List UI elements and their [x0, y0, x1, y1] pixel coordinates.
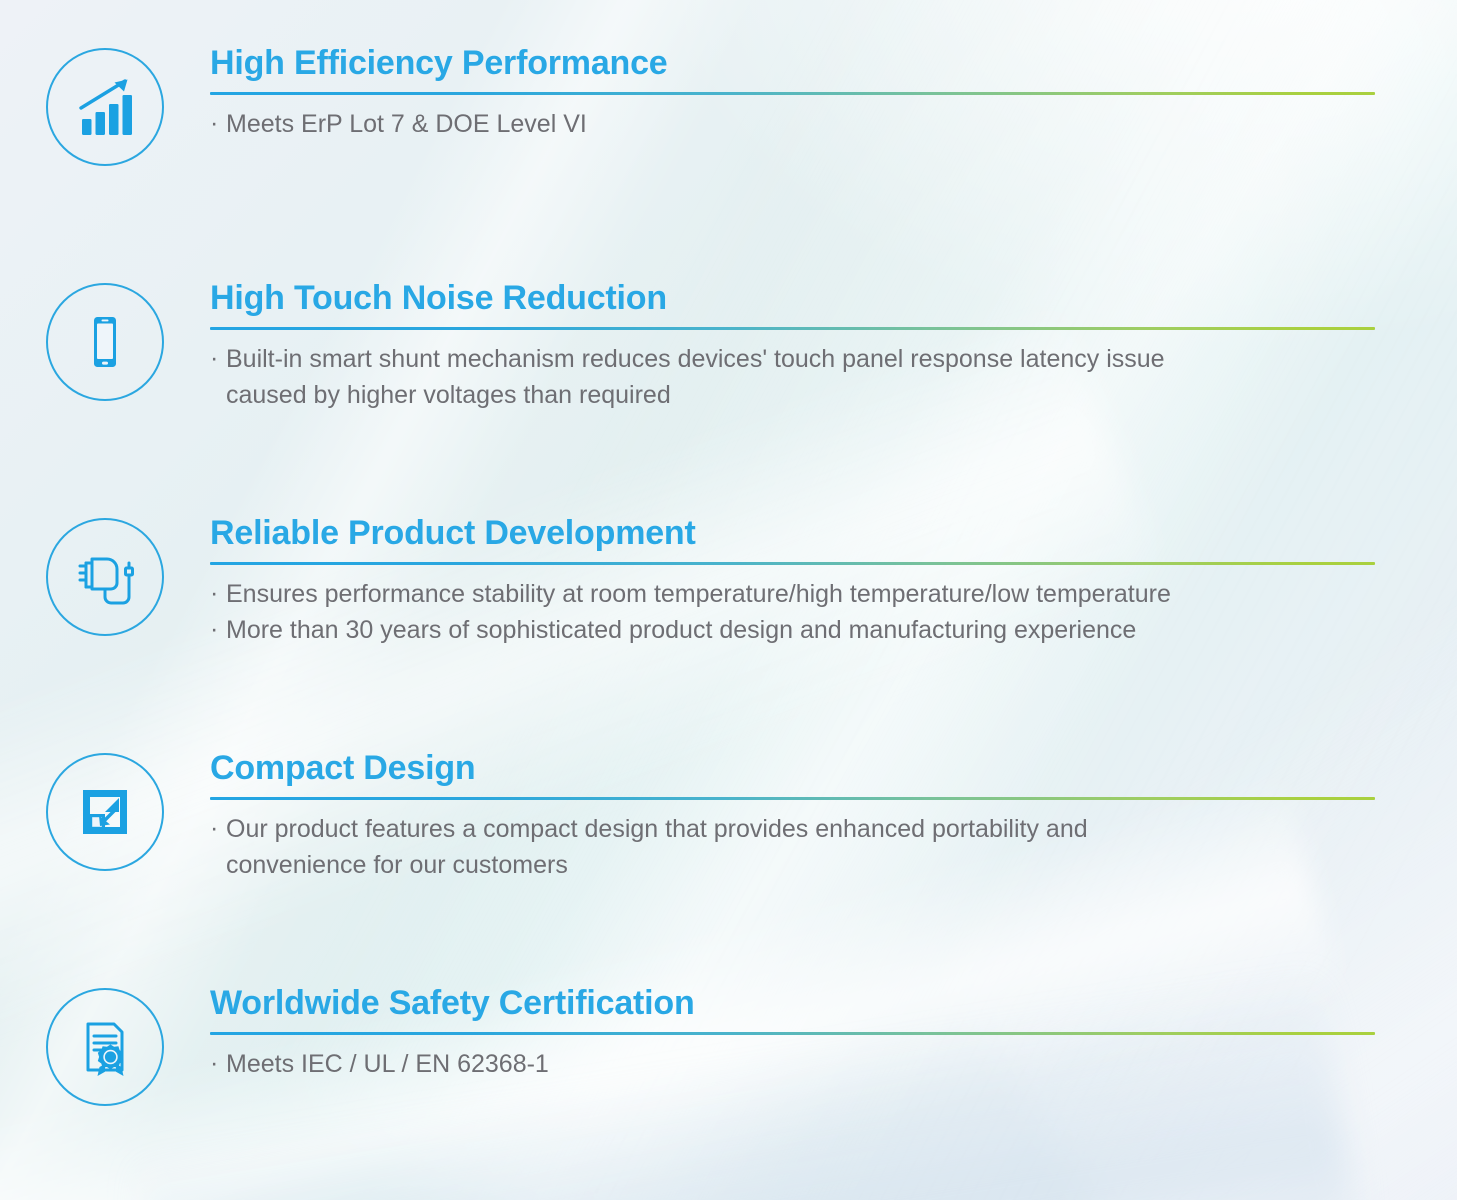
feature-text-cell: Worldwide Safety Certification Meets IEC…	[210, 984, 1457, 1083]
feature-list: High Efficiency Performance Meets ErP Lo…	[0, 0, 1457, 1200]
feature-bullet-line: Our product features a compact design th…	[226, 815, 1088, 843]
feature-text-cell: Compact Design Our product features a co…	[210, 749, 1457, 883]
feature-text-cell: Reliable Product Development Ensures per…	[210, 514, 1457, 648]
feature-text-cell: High Touch Noise Reduction Built-in smar…	[210, 279, 1457, 413]
feature-icon-cell	[0, 279, 210, 401]
feature-bullet-line: Meets ErP Lot 7 & DOE Level VI	[226, 110, 587, 138]
feature-bullet-line: Ensures performance stability at room te…	[226, 580, 1171, 608]
feature-bullet-line: More than 30 years of sophisticated prod…	[226, 616, 1136, 644]
feature-icon-cell	[0, 749, 210, 871]
feature-title: Compact Design	[210, 749, 1375, 787]
bar-chart-growth-icon	[46, 48, 164, 166]
feature-row: High Touch Noise Reduction Built-in smar…	[0, 279, 1457, 413]
feature-row: Worldwide Safety Certification Meets IEC…	[0, 984, 1457, 1106]
feature-row: Compact Design Our product features a co…	[0, 749, 1457, 883]
feature-divider	[210, 327, 1375, 330]
feature-highlights-panel: High Efficiency Performance Meets ErP Lo…	[0, 0, 1457, 1200]
feature-title: Reliable Product Development	[210, 514, 1375, 552]
feature-bullet-list: Built-in smart shunt mechanism reduces d…	[210, 342, 1375, 413]
feature-bullet: Meets ErP Lot 7 & DOE Level VI	[210, 107, 1375, 143]
feature-bullet-list: Our product features a compact design th…	[210, 812, 1375, 883]
feature-bullet-line: Built-in smart shunt mechanism reduces d…	[226, 345, 1165, 373]
feature-divider	[210, 562, 1375, 565]
feature-bullet-list: Ensures performance stability at room te…	[210, 577, 1375, 648]
feature-icon-cell	[0, 514, 210, 636]
feature-title: High Touch Noise Reduction	[210, 279, 1375, 317]
power-adapter-icon	[46, 518, 164, 636]
feature-bullet-list: Meets ErP Lot 7 & DOE Level VI	[210, 107, 1375, 143]
feature-text-cell: High Efficiency Performance Meets ErP Lo…	[210, 44, 1457, 143]
feature-title: Worldwide Safety Certification	[210, 984, 1375, 1022]
feature-title: High Efficiency Performance	[210, 44, 1375, 82]
feature-bullet-list: Meets IEC / UL / EN 62368-1	[210, 1047, 1375, 1083]
feature-bullet-line-continued: caused by higher voltages than required	[226, 378, 1375, 414]
smartphone-icon	[46, 283, 164, 401]
feature-icon-cell	[0, 44, 210, 166]
feature-divider	[210, 797, 1375, 800]
feature-row: High Efficiency Performance Meets ErP Lo…	[0, 44, 1457, 166]
feature-bullet: Our product features a compact design th…	[210, 812, 1375, 883]
feature-bullet: Ensures performance stability at room te…	[210, 577, 1375, 613]
feature-bullet-line-continued: convenience for our customers	[226, 848, 1375, 884]
feature-icon-cell	[0, 984, 210, 1106]
feature-divider	[210, 92, 1375, 95]
compact-resize-icon	[46, 753, 164, 871]
feature-row: Reliable Product Development Ensures per…	[0, 514, 1457, 648]
feature-bullet-line: Meets IEC / UL / EN 62368-1	[226, 1050, 549, 1078]
feature-divider	[210, 1032, 1375, 1035]
feature-bullet: Built-in smart shunt mechanism reduces d…	[210, 342, 1375, 413]
certificate-award-icon	[46, 988, 164, 1106]
feature-bullet: More than 30 years of sophisticated prod…	[210, 613, 1375, 649]
feature-bullet: Meets IEC / UL / EN 62368-1	[210, 1047, 1375, 1083]
